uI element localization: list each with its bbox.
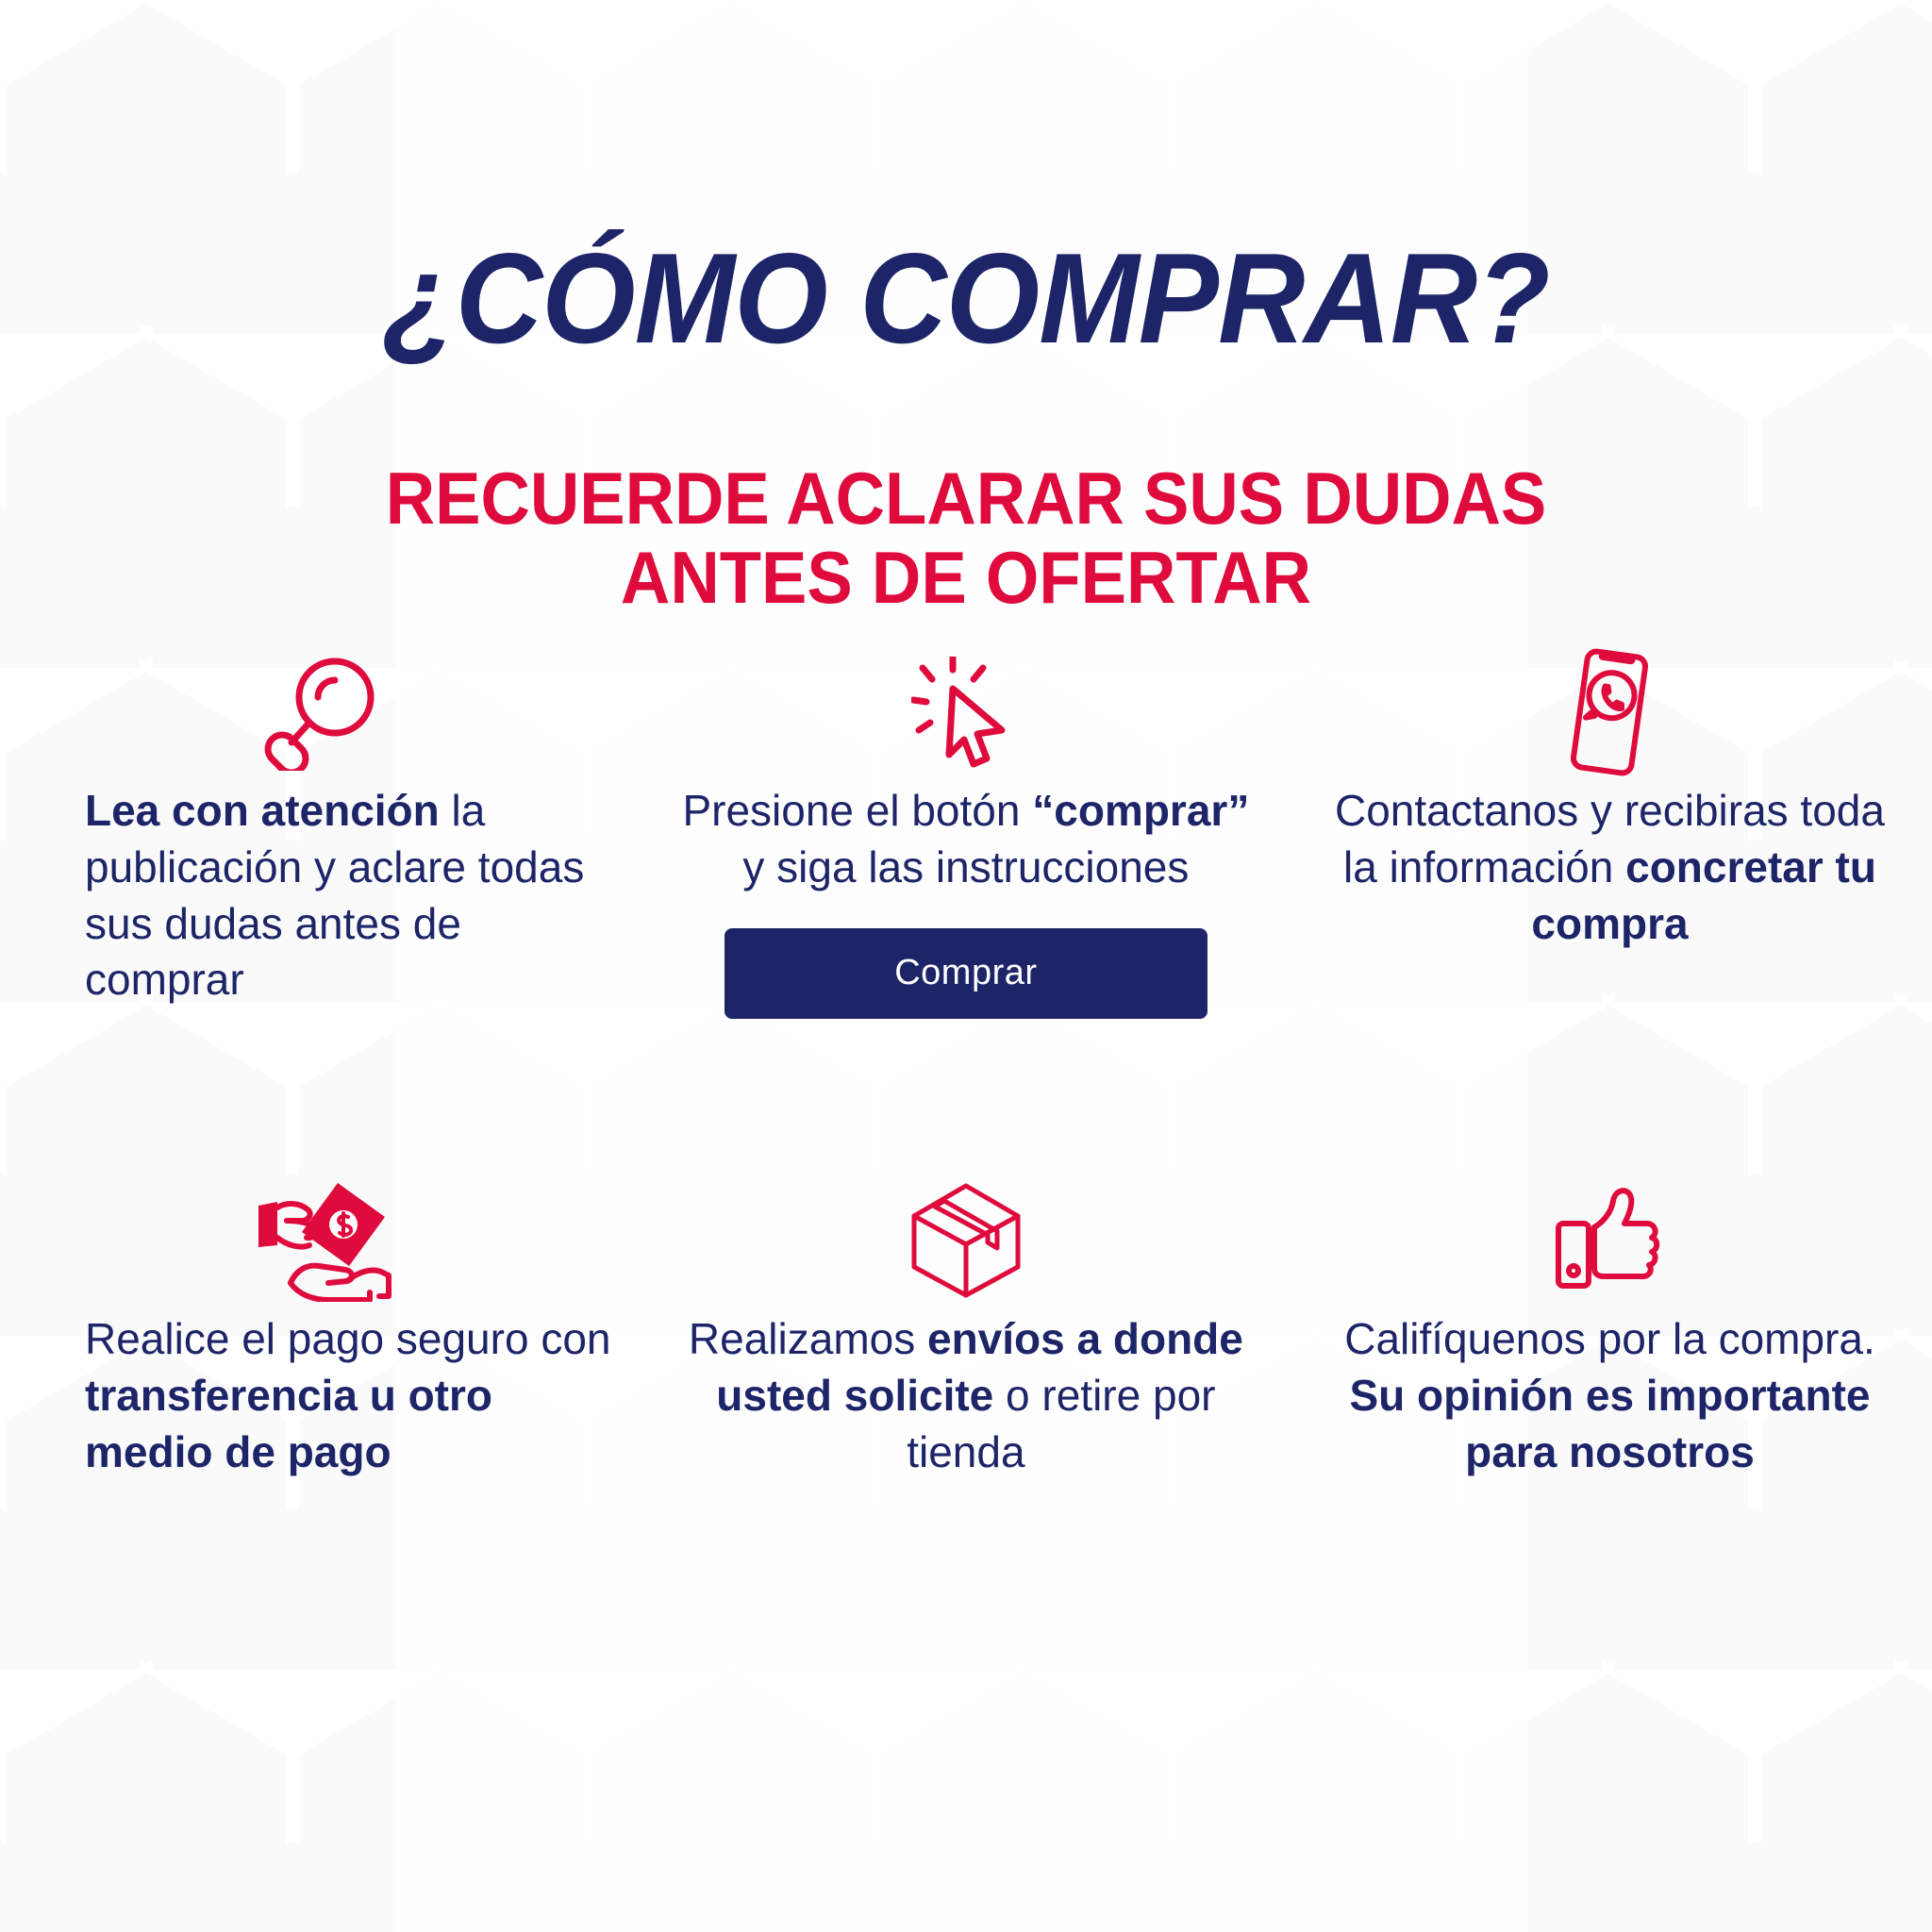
whatsapp-phone-icon: [1557, 651, 1661, 774]
step-text-press-part1: Presione el botón: [682, 786, 1032, 835]
step-text-press-part3: y siga las instrucciones: [742, 842, 1189, 891]
steps-row-top: Lea con atención la publicación y aclare…: [0, 651, 1932, 1179]
step-text-shipping-part1: Realizamos: [689, 1314, 927, 1363]
thumbs-up-icon: [1553, 1179, 1666, 1302]
step-text-payment-bold: transferencia u otro medio de pago: [85, 1371, 492, 1476]
cursor-click-icon: [911, 651, 1021, 774]
step-text-rating: Califíquenos por la compra. Su opinión e…: [1316, 1311, 1904, 1480]
step-text-shipping: Realizamos envíos a donde usted solicite…: [673, 1311, 1260, 1480]
subtitle-line-1: RECUERDE ACLARAR SUS DUDAS: [68, 458, 1865, 538]
steps-row-bottom: Realice el pago seguro con transferencia…: [0, 1179, 1932, 1707]
step-text-rating-bold: Su opinión es importante para nosotros: [1349, 1371, 1870, 1476]
steps-grid: Lea con atención la publicación y aclare…: [0, 651, 1932, 1707]
step-text-rating-part1: Califíquenos por la compra.: [1344, 1314, 1875, 1363]
page-subtitle: RECUERDE ACLARAR SUS DUDAS ANTES DE OFER…: [68, 458, 1865, 617]
step-card-contact: Contactanos y recibiras toda la informac…: [1288, 651, 1932, 1179]
step-text-read: Lea con atención la publicación y aclare…: [28, 783, 616, 1008]
step-text-payment: Realice el pago seguro con transferencia…: [28, 1311, 616, 1480]
magnifier-icon: [263, 651, 380, 774]
step-card-read: Lea con atención la publicación y aclare…: [0, 651, 644, 1179]
poster-root: ¿CÓMO COMPRAR? RECUERDE ACLARAR SUS DUDA…: [0, 0, 1932, 1932]
step-text-press-button: Presione el botón “comprar” y siga las i…: [673, 783, 1260, 896]
step-card-shipping: Realizamos envíos a donde usted solicite…: [644, 1179, 1289, 1707]
page-title: ¿CÓMO COMPRAR?: [58, 234, 1874, 362]
step-text-contact: Contactanos y recibiras toda la informac…: [1316, 783, 1904, 952]
comprar-button[interactable]: Comprar: [724, 928, 1207, 1019]
step-card-rating: Califíquenos por la compra. Su opinión e…: [1288, 1179, 1932, 1707]
step-text-payment-part1: Realice el pago seguro con: [85, 1314, 610, 1363]
cash-in-hand-icon: [251, 1179, 392, 1302]
step-card-press-button: Presione el botón “comprar” y siga las i…: [644, 651, 1289, 1179]
step-card-payment: Realice el pago seguro con transferencia…: [0, 1179, 644, 1707]
step-text-read-bold: Lea con atención: [85, 786, 440, 835]
package-box-icon: [907, 1179, 1025, 1302]
step-text-press-bold: “comprar”: [1032, 786, 1249, 835]
subtitle-line-2: ANTES DE OFERTAR: [68, 538, 1865, 617]
